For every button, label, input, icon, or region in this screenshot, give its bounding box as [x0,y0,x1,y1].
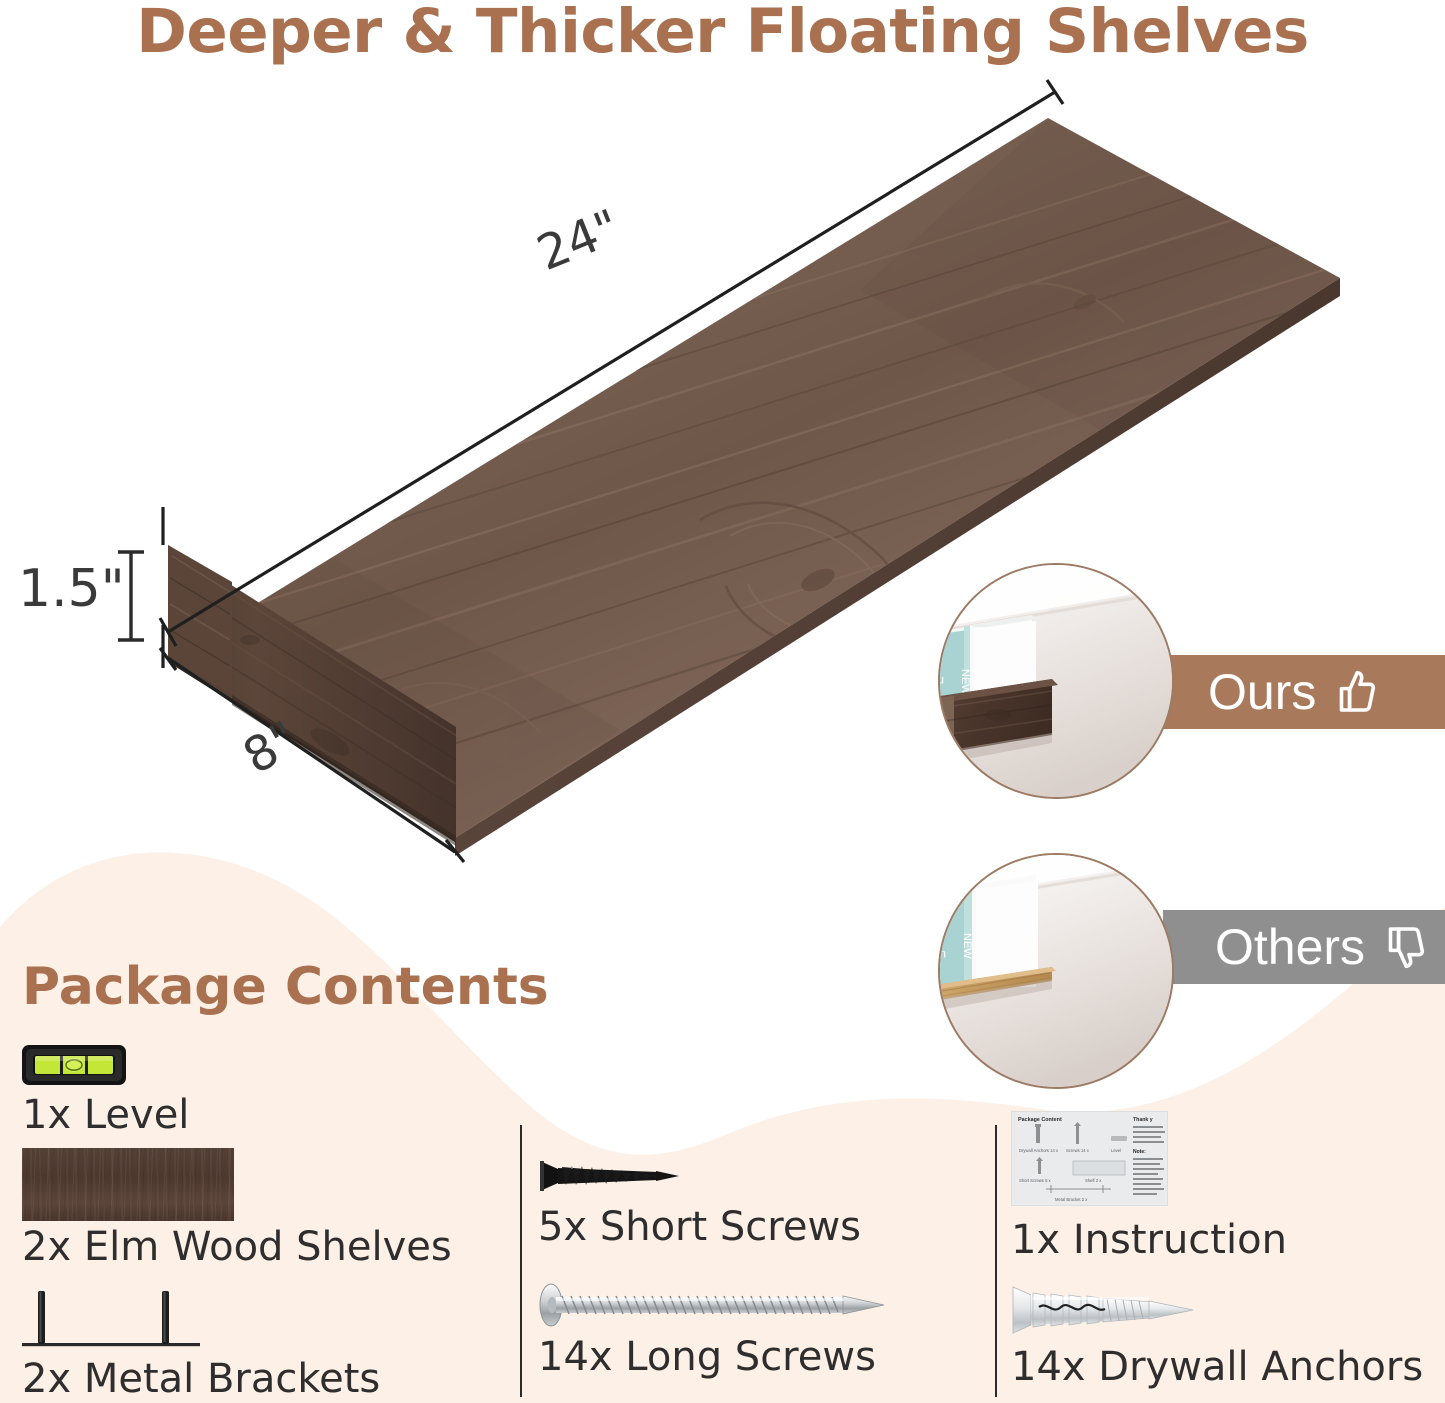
package-contents-heading: Package Contents [22,957,549,1017]
comparison-label-ours: Ours [1208,663,1316,721]
ours-book-label: mu [940,674,944,688]
instruction-side-heading: Thank y [1133,1117,1153,1123]
content-label-short-screws: 5x Short Screws [538,1207,861,1247]
page-title: Deeper & Thicker Floating Shelves [0,0,1445,67]
content-item-short-screws: 5x Short Screws [538,1157,861,1247]
contents-column-1: 1x Level 2x Elm Wood Shelves 2x Metal Br… [0,1035,510,1403]
bubble-level-icon [22,1043,126,1087]
comparison-photo-ours: NEW mu [938,563,1174,799]
column-divider-right [995,1125,997,1397]
content-label-elm-wood-shelves: 2x Elm Wood Shelves [22,1227,452,1267]
content-item-long-screws: 14x Long Screws [538,1283,898,1377]
short-screw-icon [538,1157,688,1195]
comparison-label-others: Others [1215,918,1365,976]
content-item-drywall-anchors: 14x Drywall Anchors [1011,1283,1423,1387]
content-item-metal-brackets: 2x Metal Brackets [22,1283,380,1399]
instruction-note-heading: Note: [1133,1149,1146,1155]
content-label-metal-brackets: 2x Metal Brackets [22,1359,380,1399]
contents-column-3: Package Content Thank y Note: [985,1035,1445,1403]
long-screw-icon [538,1283,898,1327]
infographic-canvas: Deeper & Thicker Floating Shelves [0,0,1445,1403]
svg-text:Shelf 2 x: Shelf 2 x [1085,1178,1102,1183]
content-label-instruction: 1x Instruction [1011,1220,1287,1260]
others-box-label-new: NEW [961,933,973,959]
svg-text:Level: Level [1111,1148,1121,1153]
package-contents-grid: 1x Level 2x Elm Wood Shelves 2x Metal Br… [0,1035,1445,1403]
content-item-instruction: Package Content Thank y Note: [1011,1111,1287,1260]
content-label-drywall-anchors: 14x Drywall Anchors [1011,1347,1423,1387]
contents-column-2: 5x Short Screws [510,1035,1000,1403]
instruction-heading: Package Content [1018,1117,1062,1123]
metal-bracket-icon [22,1283,222,1353]
svg-text:Short Screws 5 x: Short Screws 5 x [1019,1178,1052,1183]
ours-box-label-new: NEW [959,669,971,695]
svg-text:Drywall Anchors 14 x: Drywall Anchors 14 x [1019,1148,1059,1153]
drywall-anchor-icon [1011,1283,1201,1337]
content-item-level: 1x Level [22,1043,189,1135]
hero-shelf-illustration [0,0,1445,900]
comparison-banner-others: Others [1163,910,1445,984]
thumbs-up-icon [1328,665,1382,719]
thumbs-down-icon [1377,920,1431,974]
comparison-photo-others: NEW u [938,853,1174,1089]
column-divider-left [520,1125,522,1397]
content-label-level: 1x Level [22,1095,189,1135]
svg-text:Screws 14 x: Screws 14 x [1066,1148,1090,1153]
content-item-elm-wood-shelves: 2x Elm Wood Shelves [22,1148,452,1267]
content-label-long-screws: 14x Long Screws [538,1337,898,1377]
dimension-label-thickness: 1.5" [18,559,125,619]
others-shelf-photo: NEW u [940,855,1174,1089]
svg-text:Metal Bracket 2 x: Metal Bracket 2 x [1055,1197,1088,1202]
others-book-label: u [940,948,946,962]
wood-shelf-swatch-icon [22,1148,234,1221]
instruction-sheet-icon: Package Content Thank y Note: [1011,1111,1168,1206]
ours-shelf-photo: NEW mu [940,565,1174,799]
